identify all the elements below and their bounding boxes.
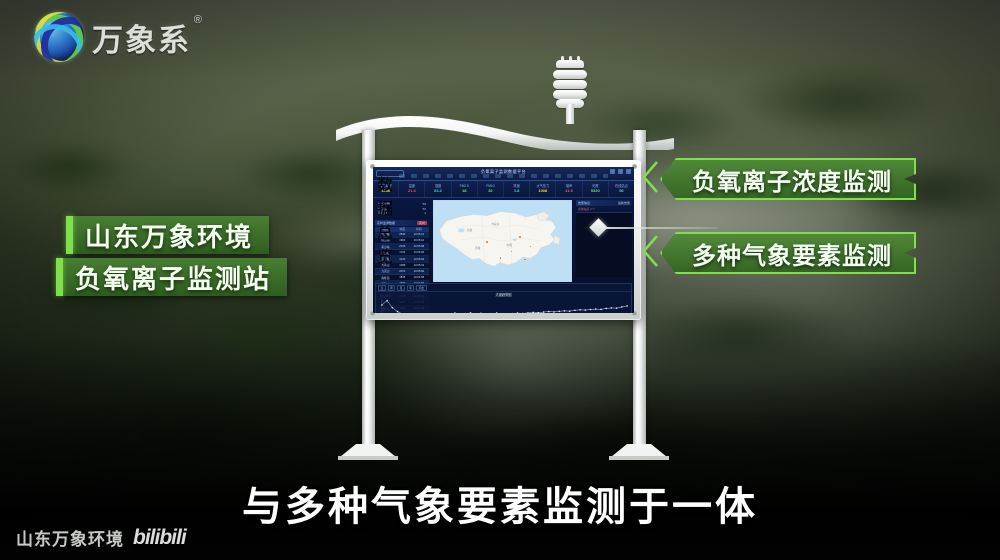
chart-data-point [579,309,581,311]
kpi-value: 5320 [591,189,600,193]
kpi-cell[interactable]: PM2.518 [452,181,478,197]
kiosk-base-right [609,444,669,460]
subtitle-caption: 与多种气象要素监测于一体 [0,474,1000,532]
left-label-text: 山东万象环境 [85,217,269,254]
chart-toolbar-button[interactable]: 导出 [416,285,426,291]
chart-data-point [605,308,607,310]
curved-crossbar [330,112,680,150]
map-label: 西藏 [475,246,480,250]
callout-arrow-icon [638,234,658,268]
kpi-cell[interactable]: 大气压力1008 [530,181,556,197]
left-label-text: 负氧离子监测站 [75,259,287,296]
chart-data-point [553,311,555,313]
page-title: 负氧离子监测数据平台 [373,169,634,175]
kpi-cell[interactable]: 噪声41.6 [556,181,582,197]
bilibili-logo-icon: bilibili [133,526,186,550]
chart-data-point [381,304,383,306]
kpi-value: 41.6 [565,189,573,193]
kiosk-base-left [338,444,398,460]
chart-data-point [397,311,399,313]
chart-plot: 00:0000:3001:0001:3002:0002:3003:0003:30… [376,296,631,313]
chart-toolbar[interactable]: 日周月年导出 [376,284,631,292]
chart-data-point [600,309,602,311]
chart-data-point [527,312,529,313]
chart-series-line [382,301,627,313]
right-label-text: 负氧离子浓度监测 [692,162,892,197]
kpi-value: 18 [462,189,466,193]
chart-data-point [548,311,550,313]
china-map[interactable]: 新疆 西藏 内蒙古 中国 [433,200,572,282]
kpi-value: 21.4 [408,189,416,193]
left-label-banner-1: 山东万象环境 [66,216,269,254]
chart-data-point [611,307,613,309]
mini-stat-value: 2 [424,211,426,216]
monitoring-kiosk: 数据总览 负氧离子监测数据平台 负氧离子1286温度21.4湿度63.2PM2.… [330,60,680,460]
right-label-text: 多种气象要素监测 [692,236,892,271]
chart-data-point [454,312,456,313]
alert-message: 离线站点 2 个 [576,206,632,213]
chart-data-point [386,300,388,302]
chart-data-point [480,312,482,313]
status-badge: 实时 [417,221,427,225]
kpi-cell[interactable]: 湿度63.2 [425,181,451,197]
map-label: 内蒙古 [492,222,500,226]
gear-icon[interactable] [626,169,631,174]
globe-swirl-icon [34,12,84,62]
kpi-cell[interactable]: 光照5320 [583,181,609,197]
kpi-value: 63.2 [434,189,442,193]
chart-data-point [585,309,587,311]
display-frame: 数据总览 负氧离子监测数据平台 负氧离子1286温度21.4湿度63.2PM2.… [366,160,641,320]
chart-data-point [517,312,519,313]
chart-data-point [543,311,545,313]
kpi-cell[interactable]: 在线站点56 [609,181,634,197]
kpi-cell[interactable]: 风速1.8 [504,181,530,197]
callout-connector-line [598,227,718,229]
accent-bar [66,216,73,254]
map-label: 新疆 [467,228,472,232]
kpi-value: 32 [488,189,492,193]
chart-data-point [496,312,498,313]
chart-data-point [621,306,623,308]
brand-logo-text: 万象系 ® [92,15,191,60]
chart-data-point [616,307,618,309]
chart-data-point [569,310,571,312]
chart-toolbar-button[interactable]: 月 [397,285,405,291]
dashboard-screen[interactable]: 数据总览 负氧离子监测数据平台 负氧离子1286温度21.4湿度63.2PM2.… [373,167,634,313]
bell-icon[interactable] [610,169,615,174]
right-label-banner-1: 负氧离子浓度监测 [660,158,916,200]
video-frame: 万象系 ® [0,0,1000,560]
chart-data-point [532,312,534,313]
alert-title: 告警信息 [578,201,590,205]
chart-toolbar-button[interactable]: 日 [378,285,386,291]
watermark: 山东万象环境 bilibili [16,525,186,550]
chart-data-point [558,311,560,313]
watermark-text: 山东万象环境 [16,525,124,550]
left-label-banner-2: 负氧离子监测站 [56,258,287,296]
accent-bar [56,258,63,296]
right-label-banner-2: 多种气象要素监测 [660,232,916,274]
chart-data-point [626,305,628,307]
chart-data-point [564,310,566,312]
chart-data-point [590,309,592,311]
chart-toolbar-button[interactable]: 周 [388,285,396,291]
map-region-label: 中国 [507,243,512,247]
alert-panel: 告警信息 最新告警 离线站点 2 个 [574,198,634,282]
registered-mark-icon: ® [194,14,204,26]
brand-logo: 万象系 ® [34,12,191,62]
callout-arrow-icon [638,160,658,194]
chart-data-point [595,308,597,310]
kpi-value: 1.8 [514,189,520,193]
user-icon[interactable] [618,169,623,174]
chart-data-point [574,309,576,311]
alert-subtitle: 最新告警 [618,201,630,205]
trend-chart[interactable]: 日周月年导出 浓度趋势图 00:0000:3001:0001:3002:0002… [375,283,632,313]
chart-data-point [392,307,394,309]
map-landmass [434,201,571,281]
dashboard-body: 站点总数58在线数56离线数2 实时监测数据 实时 站点浓度时间 泰山站2840… [373,198,634,282]
kpi-cell[interactable]: PM1032 [478,181,504,197]
chart-data-point [470,312,472,313]
dashboard-header: 数据总览 负氧离子监测数据平台 [373,167,634,181]
chart-data-point [538,312,540,313]
kpi-cell[interactable]: 温度21.4 [399,181,425,197]
kpi-value: 1008 [538,189,547,193]
kpi-value: 56 [619,189,623,193]
alert-panel-body [576,213,632,277]
map-panel[interactable]: 新疆 西藏 内蒙古 中国 [431,198,574,282]
header-icons [610,169,631,174]
kpi-row: 负氧离子1286温度21.4湿度63.2PM2.518PM1032风速1.8大气… [373,181,634,198]
chart-toolbar-button[interactable]: 年 [407,285,415,291]
brand-name: 万象系 [92,23,191,58]
